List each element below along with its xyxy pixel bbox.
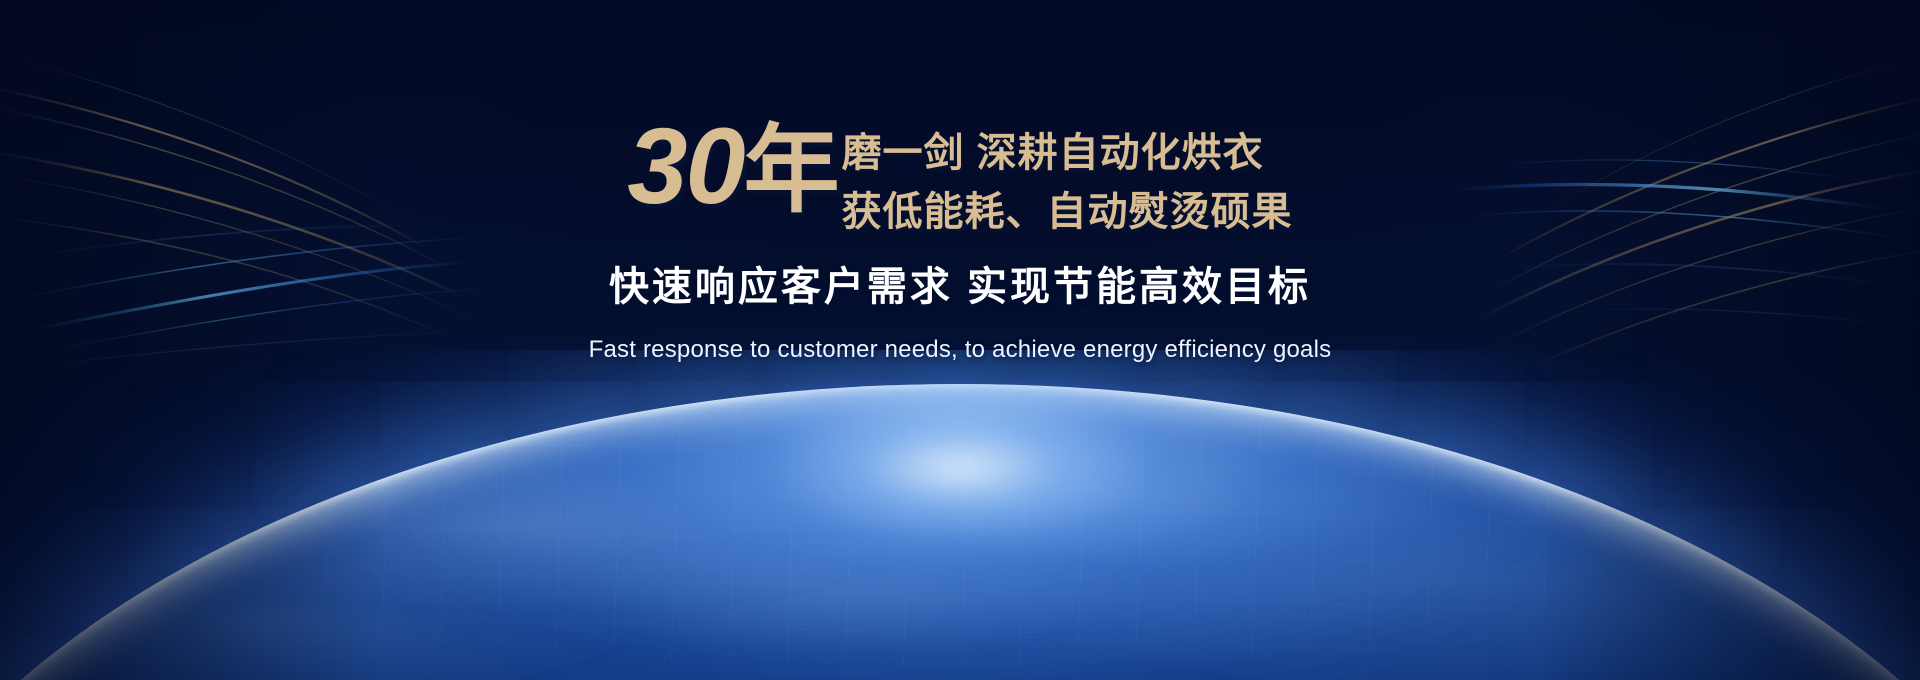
anniversary-number: 30 bbox=[627, 105, 743, 226]
headline-lines: 磨一剑 深耕自动化烘衣 获低能耗、自动熨烫硕果 bbox=[842, 112, 1293, 242]
subtitle-chinese: 快速响应客户需求 实现节能高效目标 bbox=[0, 254, 1920, 312]
anniversary-unit: 年 bbox=[744, 117, 840, 224]
earth-sphere bbox=[0, 384, 1920, 680]
anniversary-years: 30年 bbox=[627, 114, 839, 218]
headline-line-1: 磨一剑 深耕自动化烘衣 bbox=[842, 124, 1293, 183]
earth-horizon bbox=[0, 350, 1920, 680]
headline-line-2: 获低能耗、自动熨烫硕果 bbox=[842, 183, 1293, 242]
headline: 30年 磨一剑 深耕自动化烘衣 获低能耗、自动熨烫硕果 bbox=[0, 112, 1920, 242]
earth-atmosphere-rim bbox=[0, 384, 1920, 680]
banner-copy: 30年 磨一剑 深耕自动化烘衣 获低能耗、自动熨烫硕果 快速响应客户需求 实现节… bbox=[0, 112, 1920, 364]
promo-banner: 30年 磨一剑 深耕自动化烘衣 获低能耗、自动熨烫硕果 快速响应客户需求 实现节… bbox=[0, 0, 1920, 680]
subtitle-english: Fast response to customer needs, to achi… bbox=[0, 336, 1920, 364]
